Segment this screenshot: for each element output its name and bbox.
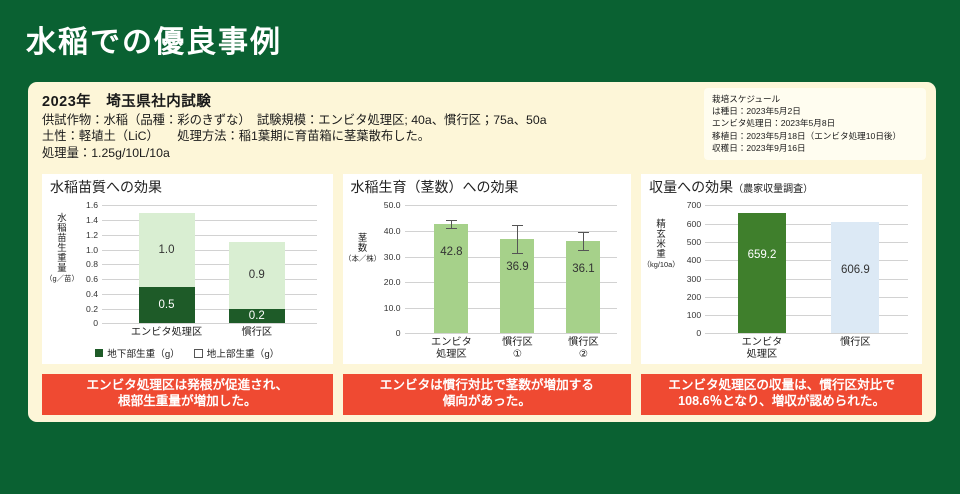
trial-meta-line: 土性：軽埴土（LiC） 処理方法：稲1葉期に育苗箱に茎葉散布した。 (42, 128, 682, 144)
y-axis-title-char: 量 (52, 263, 72, 273)
chart-panels: 水稲苗質への効果 水稲苗生重量（g／苗） 1.61.41.21.00.80.60… (42, 174, 922, 364)
trial-meta-line: 供試作物：水稲（品種：彩のきずな） 試験規模：エンビタ処理区; 40a、慣行区；… (42, 112, 682, 128)
x-axis-tick-label-line: ① (486, 349, 548, 360)
legend-swatch-open-icon (194, 349, 203, 358)
bar-value-label: 36.1 (566, 263, 600, 275)
error-bar-cap (512, 225, 523, 226)
x-axis-tick-label-line: エンビタ (724, 337, 800, 348)
y-axis-title: 茎数（本／株） (353, 233, 373, 263)
bar: 42.8 (434, 224, 468, 334)
y-axis-tick-label: 1.0 (86, 245, 98, 255)
x-axis-tick-label: 慣行区 (817, 337, 893, 348)
plot-region: 7006005004003002001000659.2606.9エンビタ処理区慣… (705, 205, 908, 333)
x-axis-tick-label: エンビタ処理区 (125, 327, 209, 338)
y-axis-tick-label: 0.4 (86, 289, 98, 299)
chart-panel-seedling-quality: 水稲苗質への効果 水稲苗生重量（g／苗） 1.61.41.21.00.80.60… (42, 174, 333, 364)
chart-title: 収量への効果（農家収量調査） (649, 180, 914, 195)
error-bar-cap (578, 232, 589, 233)
y-axis-title-char: 重 (651, 249, 671, 259)
y-axis-title: 精玄米重（kg/10a） (651, 219, 671, 269)
y-axis-tick-label: 700 (687, 200, 701, 210)
bar-value-label: 659.2 (738, 249, 786, 261)
conclusion-banner-tiller: エンビタは慣行対比で茎数が増加する傾向があった。 (343, 374, 632, 415)
schedule-line: 収穫日：2023年9月16日 (712, 142, 920, 154)
trial-meta-heading: 2023年 埼玉県社内試験 (42, 90, 682, 111)
legend-item-aboveground: 地上部生重（g） (194, 346, 280, 360)
y-axis-tick-label: 0.6 (86, 274, 98, 284)
bar: 36.1 (566, 241, 600, 333)
schedule-heading: 栽培スケジュール (712, 93, 920, 105)
schedule-line: は種日：2023年5月2日 (712, 105, 920, 117)
y-axis-tick-label: 0.2 (86, 304, 98, 314)
plot-region: 1.61.41.21.00.80.60.40.200.51.00.20.9エンビ… (102, 205, 317, 323)
bar: 659.2 (738, 213, 786, 334)
legend-item-underground: 地下部生重（g） (95, 346, 180, 360)
grid-line: 0 (102, 323, 317, 324)
x-axis-tick-label-line: 慣行区 (817, 337, 893, 348)
error-bar-cap (512, 253, 523, 254)
conclusion-banner-yield: エンビタ処理区の収量は、慣行区対比で108.6％となり、増収が認められた。 (641, 374, 922, 415)
bar-value-label: 36.9 (500, 261, 534, 273)
y-axis-tick-label: 0 (396, 328, 401, 338)
bar-segment-underground: 0.5 (139, 287, 195, 324)
legend-swatch-filled-icon (95, 349, 103, 357)
bar-value-label: 606.9 (831, 264, 879, 276)
grid-line: 1.2 (102, 235, 317, 236)
x-axis-tick-label-line: 慣行区 (215, 327, 299, 338)
chart-panel-tiller-number: 水稲生育（茎数）への効果 茎数（本／株） 50.040.030.020.010.… (343, 174, 632, 364)
x-axis-tick-label-line: ② (552, 349, 614, 360)
conclusion-line: 傾向があった。 (345, 394, 630, 410)
bar-stacked: 0.51.0 (139, 213, 195, 324)
x-axis-tick-label: エンビタ処理区 (724, 337, 800, 360)
y-axis-tick-label: 40.0 (384, 226, 401, 236)
y-axis-tick-label: 0.8 (86, 259, 98, 269)
error-bar-cap (578, 250, 589, 251)
grid-line: 1.4 (102, 220, 317, 221)
error-bar (451, 220, 452, 228)
chart-plot-area: 精玄米重（kg/10a） 7006005004003002001000659.2… (649, 197, 914, 355)
error-bar (517, 225, 518, 254)
bar: 606.9 (831, 222, 879, 333)
y-axis-tick-label: 1.6 (86, 200, 98, 210)
x-axis-tick-label: 慣行区 (215, 327, 299, 338)
conclusion-line: 108.6％となり、増収が認められた。 (643, 394, 920, 410)
chart-plot-area: 水稲苗生重量（g／苗） 1.61.41.21.00.80.60.40.200.5… (50, 197, 325, 355)
legend-label: 地上部生重（g） (207, 346, 280, 360)
conclusion-line: エンビタは慣行対比で茎数が増加する (345, 378, 630, 394)
bar-segment-aboveground: 1.0 (139, 213, 195, 287)
plot-region: 50.040.030.020.010.0042.836.936.1エンビタ処理区… (405, 205, 618, 333)
y-axis-tick-label: 50.0 (384, 200, 401, 210)
y-axis-tick-label: 1.4 (86, 215, 98, 225)
grid-line: 0 (705, 333, 908, 334)
conclusion-banners: エンビタ処理区は発根が促進され、根部生重量が増加した。 エンビタは慣行対比で茎数… (42, 374, 922, 415)
bar-segment-underground: 0.2 (229, 309, 285, 324)
grid-line: 700 (705, 205, 908, 206)
legend-label: 地下部生重（g） (107, 346, 180, 360)
y-axis-tick-label: 100 (687, 310, 701, 320)
x-axis-tick-label: エンビタ処理区 (420, 337, 482, 360)
y-axis-tick-label: 0 (93, 318, 98, 328)
chart-title-main: 収量への効果 (649, 179, 733, 195)
y-axis-title-char: 数 (353, 243, 373, 253)
chart-title-sub: （農家収量調査） (733, 184, 813, 195)
y-axis-tick-label: 1.2 (86, 230, 98, 240)
chart-title: 水稲苗質への効果 (50, 180, 325, 195)
conclusion-line: エンビタ処理区は発根が促進され、 (44, 378, 331, 394)
schedule-line: 移植日：2023年5月18日（エンビタ処理10日後） (712, 130, 920, 142)
x-axis-tick-label-line: 慣行区 (552, 337, 614, 348)
x-axis-tick-label-line: エンビタ (420, 337, 482, 348)
x-axis-tick-label-line: 慣行区 (486, 337, 548, 348)
grid-line: 0 (405, 333, 618, 334)
x-axis-tick-label: 慣行区② (552, 337, 614, 360)
chart-title: 水稲生育（茎数）への効果 (351, 180, 624, 195)
bar-value-label: 42.8 (434, 246, 468, 258)
slide-root: 水稲での優良事例 2023年 埼玉県社内試験 供試作物：水稲（品種：彩のきずな）… (0, 0, 960, 494)
y-axis-unit: （kg/10a） (640, 261, 682, 269)
trial-meta: 2023年 埼玉県社内試験 供試作物：水稲（品種：彩のきずな） 試験規模：エンビ… (42, 90, 682, 161)
chart-plot-area: 茎数（本／株） 50.040.030.020.010.0042.836.936.… (351, 197, 624, 355)
y-axis-tick-label: 300 (687, 274, 701, 284)
error-bar (583, 232, 584, 250)
conclusion-line: エンビタ処理区の収量は、慣行区対比で (643, 378, 920, 394)
bar-stacked: 0.20.9 (229, 242, 285, 323)
x-axis-tick-label-line: 処理区 (724, 349, 800, 360)
y-axis-unit: （本／株） (342, 255, 384, 263)
y-axis-title: 水稲苗生重量（g／苗） (52, 213, 72, 283)
conclusion-line: 根部生重量が増加した。 (44, 394, 331, 410)
y-axis-tick-label: 500 (687, 237, 701, 247)
x-axis-tick-label-line: エンビタ処理区 (125, 327, 209, 338)
y-axis-tick-label: 600 (687, 219, 701, 229)
cultivation-schedule: 栽培スケジュール は種日：2023年5月2日 エンビタ処理日：2023年5月8日… (704, 88, 926, 160)
y-axis-tick-label: 20.0 (384, 277, 401, 287)
y-axis-tick-label: 200 (687, 292, 701, 302)
conclusion-banner-seedling: エンビタ処理区は発根が促進され、根部生重量が増加した。 (42, 374, 333, 415)
grid-line: 1.6 (102, 205, 317, 206)
y-axis-tick-label: 30.0 (384, 252, 401, 262)
chart-panel-yield: 収量への効果（農家収量調査） 精玄米重（kg/10a） 700600500400… (641, 174, 922, 364)
y-axis-tick-label: 0 (696, 328, 701, 338)
bar-segment-aboveground: 0.9 (229, 242, 285, 308)
schedule-line: エンビタ処理日：2023年5月8日 (712, 117, 920, 129)
y-axis-unit: （g／苗） (41, 275, 83, 283)
y-axis-tick-label: 10.0 (384, 303, 401, 313)
chart-legend: 地下部生重（g） 地上部生重（g） (42, 346, 333, 360)
trial-meta-line: 処理量：1.25g/10L/10a (42, 145, 682, 161)
x-axis-tick-label: 慣行区① (486, 337, 548, 360)
x-axis-tick-label-line: 処理区 (420, 349, 482, 360)
y-axis-tick-label: 400 (687, 255, 701, 265)
content-card: 2023年 埼玉県社内試験 供試作物：水稲（品種：彩のきずな） 試験規模：エンビ… (28, 82, 936, 422)
grid-line: 50.0 (405, 205, 618, 206)
page-title: 水稲での優良事例 (26, 26, 282, 61)
error-bar-cap (446, 220, 457, 221)
error-bar-cap (446, 228, 457, 229)
